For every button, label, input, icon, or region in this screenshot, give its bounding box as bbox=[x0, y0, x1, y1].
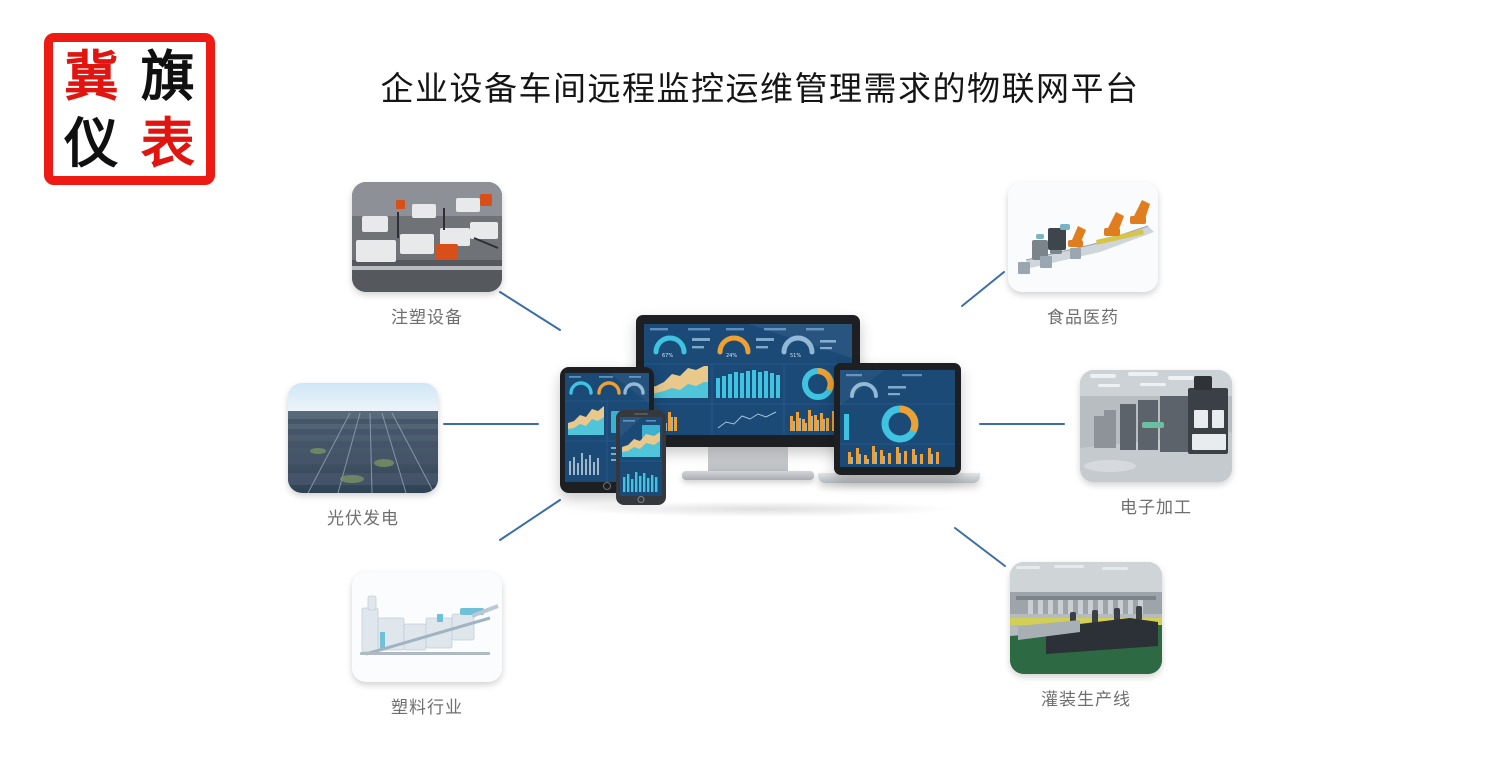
svg-text:24%: 24% bbox=[726, 353, 737, 359]
thumbnail-photovoltaic bbox=[288, 383, 438, 493]
logo-char-3: 仪 bbox=[53, 109, 130, 176]
phone-dashboard-screen bbox=[620, 417, 662, 496]
monitor-stand-base bbox=[682, 471, 814, 480]
bottling-line-icon bbox=[1010, 562, 1162, 674]
node-electronics[interactable]: 电子加工 bbox=[1080, 370, 1232, 518]
device-monitor[interactable]: 67%24%51% bbox=[636, 315, 860, 447]
logo-char-4: 表 bbox=[130, 109, 207, 176]
node-label-electronics: 电子加工 bbox=[1080, 493, 1232, 518]
dashboard-chart-phone bbox=[620, 417, 662, 496]
laptop-dashboard-screen bbox=[840, 370, 955, 467]
device-phone[interactable] bbox=[616, 410, 666, 505]
connector-bottom-right bbox=[955, 528, 1005, 566]
node-filling-line[interactable]: 灌装生产线 bbox=[1010, 562, 1162, 710]
node-label-photovoltaic: 光伏发电 bbox=[288, 504, 438, 529]
node-label-filling-line: 灌装生产线 bbox=[1010, 685, 1162, 710]
svg-text:67%: 67% bbox=[662, 353, 673, 359]
cleanroom-icon bbox=[1080, 370, 1232, 482]
node-label-food-pharma: 食品医药 bbox=[1008, 303, 1158, 328]
company-logo: 冀 旗 仪 表 bbox=[44, 33, 215, 185]
svg-text:51%: 51% bbox=[790, 353, 801, 359]
dashboard-chart-monitor: 67%24%51% bbox=[644, 324, 852, 435]
node-food-pharma[interactable]: 食品医药 bbox=[1008, 182, 1158, 328]
factory-machines-icon bbox=[352, 182, 502, 292]
diagram-canvas: 冀 旗 仪 表 企业设备车间远程监控运维管理需求的物联网平台 bbox=[0, 0, 1499, 759]
thumbnail-filling-line bbox=[1010, 562, 1162, 674]
logo-char-2: 旗 bbox=[130, 42, 207, 109]
logo-character-grid: 冀 旗 仪 表 bbox=[53, 42, 206, 176]
thumbnail-electronics bbox=[1080, 370, 1232, 482]
phone-home-button[interactable] bbox=[638, 496, 645, 503]
monitor-stand-neck bbox=[708, 447, 788, 472]
node-injection-molding[interactable]: 注塑设备 bbox=[352, 182, 502, 328]
node-plastics[interactable]: 塑料行业 bbox=[352, 572, 502, 718]
monitor-dashboard-screen: 67%24%51% bbox=[644, 324, 852, 435]
dashboard-chart-laptop bbox=[840, 370, 955, 467]
node-label-injection-molding: 注塑设备 bbox=[352, 303, 502, 328]
page-title: 企业设备车间远程监控运维管理需求的物联网平台 bbox=[330, 62, 1190, 110]
extrusion-line-icon bbox=[352, 572, 502, 682]
tablet-home-button[interactable] bbox=[603, 482, 611, 490]
phone-speaker bbox=[634, 413, 648, 415]
iot-platform-device-cluster[interactable]: 67%24%51% bbox=[548, 305, 968, 520]
thumbnail-injection-molding bbox=[352, 182, 502, 292]
logo-char-1: 冀 bbox=[53, 42, 130, 109]
robot-conveyor-icon bbox=[1008, 182, 1158, 292]
node-photovoltaic[interactable]: 光伏发电 bbox=[288, 383, 438, 529]
thumbnail-plastics bbox=[352, 572, 502, 682]
thumbnail-food-pharma bbox=[1008, 182, 1158, 292]
solar-farm-icon bbox=[288, 383, 438, 493]
connector-top-right bbox=[962, 272, 1004, 306]
device-laptop[interactable] bbox=[834, 363, 961, 475]
node-label-plastics: 塑料行业 bbox=[352, 693, 502, 718]
